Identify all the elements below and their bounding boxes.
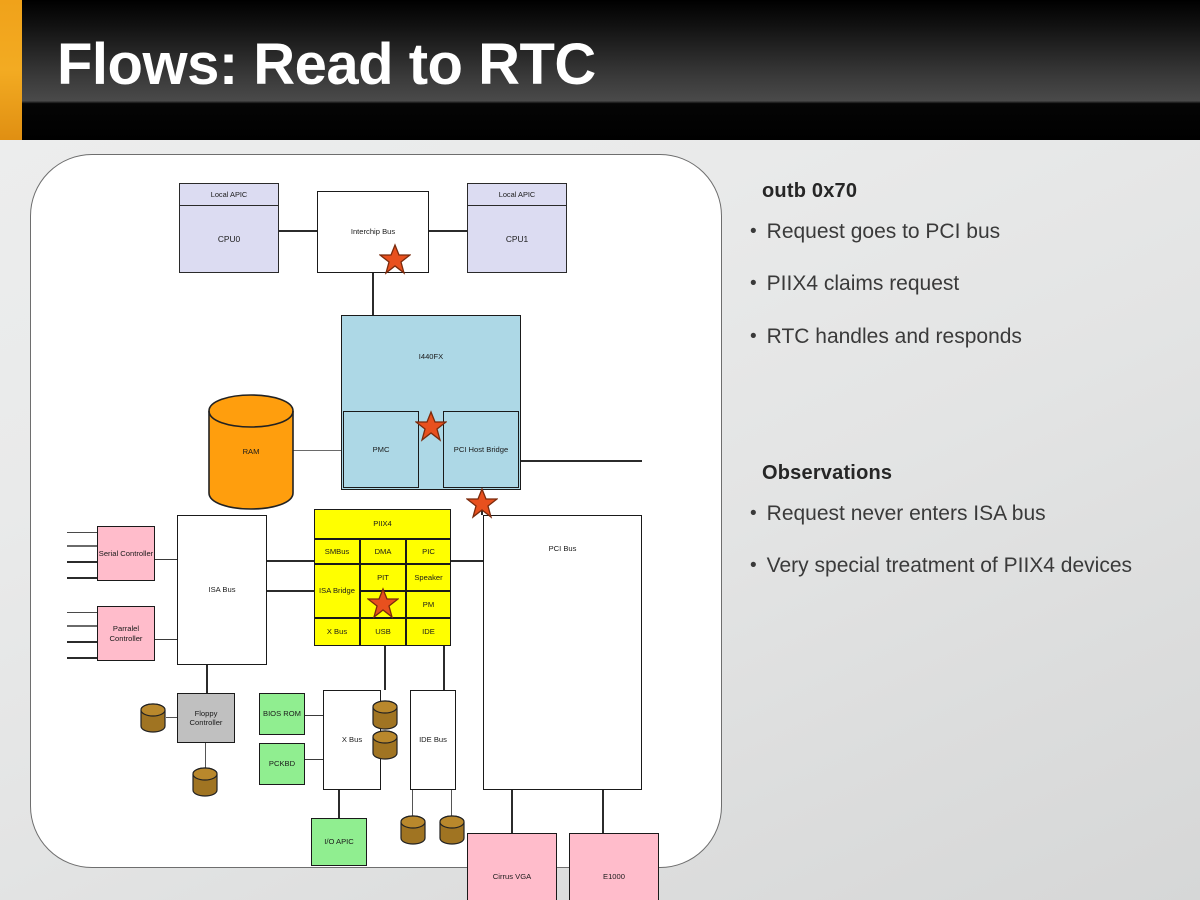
serial-lead-3 [67,561,97,563]
xbus-cell-label: X Bus [327,627,347,636]
wire-idebus-disk3 [412,787,413,817]
wire-xbus-ioapic [338,790,340,818]
flow-bullet-1: • Request goes to PCI bus [750,219,1178,245]
dma-label: DMA [375,547,392,556]
node-pmc[interactable]: PMC [343,411,419,488]
node-pci-bus[interactable]: PCI Bus [483,515,642,790]
bios-rom-label: BIOS ROM [263,709,301,718]
wire-interchip-cpu1 [429,230,467,232]
node-piix4-header[interactable]: PIIX4 [314,509,451,539]
speaker-label: Speaker [414,573,442,582]
bullet-glyph: • [750,501,757,527]
pmc-label: PMC [373,445,390,454]
serial-lead-2 [67,545,97,547]
node-io-apic[interactable]: I/O APIC [311,818,367,866]
isa-bridge-label: ISA Bridge [319,586,355,595]
observations-bullet-1: • Request never enters ISA bus [750,501,1178,527]
flow-bullet-3-text: RTC handles and responds [767,324,1178,350]
node-cpu0[interactable]: Local APIC CPU0 [179,183,279,273]
architecture-diagram: Local APIC CPU0 Local APIC CPU1 Interchi… [31,155,721,867]
star-marker-pci-bus-icon [466,487,498,519]
bullet-glyph: • [750,324,757,350]
pci-bus-label: PCI Bus [549,544,577,553]
wire-piix4-pcibus [451,560,483,562]
node-xbus-cell[interactable]: X Bus [314,618,360,646]
node-pci-host-bridge[interactable]: PCI Host Bridge [443,411,519,488]
pit-label: PIT [377,573,389,582]
wire-cpu0-interchip [279,230,317,232]
serial-lead-1 [67,532,97,533]
page-title: Flows: Read to RTC [57,36,596,94]
node-floppy-controller[interactable]: Floppy Controller [177,693,235,743]
diagram-card: Local APIC CPU0 Local APIC CPU1 Interchi… [30,154,722,868]
observations-bullet-2-text: Very special treatment of PIIX4 devices [767,553,1178,579]
node-smbus[interactable]: SMBus [314,539,360,564]
star-marker-i440fx-icon [415,410,447,442]
i440fx-label: I440FX [419,352,443,361]
flow-bullet-2-text: PIIX4 claims request [767,271,1178,297]
node-cirrus-vga[interactable]: Cirrus VGA [467,833,557,900]
piix4-label: PIIX4 [373,519,392,528]
flow-bullet-2: • PIIX4 claims request [750,271,1178,297]
node-ram[interactable] [203,393,299,511]
node-serial-controller[interactable]: Serial Controller [97,526,155,581]
parallel-lead-1 [67,612,97,613]
smbus-label: SMBus [325,547,349,556]
node-speaker[interactable]: Speaker [406,564,451,591]
pci-host-bridge-label: PCI Host Bridge [454,445,508,454]
x-bus-label: X Bus [342,735,362,744]
wire-piix4-xbus [384,645,386,690]
node-isa-bridge[interactable]: ISA Bridge [314,564,360,618]
cpu1-local-apic-label: Local APIC [468,184,566,206]
ide-disk-3-icon [399,815,427,845]
node-pic[interactable]: PIC [406,539,451,564]
parallel-lead-3 [67,641,97,643]
bullet-glyph: • [750,271,757,297]
node-isa-bus[interactable]: ISA Bus [177,515,267,665]
e1000-label: E1000 [603,872,625,881]
floppy-drive-b-icon [191,767,219,797]
wire-floppy-driveB [205,743,206,769]
pckbd-label: PCKBD [269,759,295,768]
cirrus-vga-label: Cirrus VGA [493,872,531,881]
usb-label: USB [375,627,391,636]
node-cpu1[interactable]: Local APIC CPU1 [467,183,567,273]
node-e1000[interactable]: E1000 [569,833,659,900]
wire-serial-isabus [155,559,177,560]
wire-interchip-i440fx [372,272,374,315]
cpu1-label: CPU1 [468,206,566,272]
ide-disk-2-icon [371,730,399,760]
title-bar: Flows: Read to RTC [0,0,1200,140]
parallel-controller-label: Parralel Controller [98,624,154,643]
node-parallel-controller[interactable]: Parralel Controller [97,606,155,661]
slide: Flows: Read to RTC [0,0,1200,900]
wire-biosrom-xbus [305,715,323,716]
parallel-lead-4 [67,657,97,659]
node-interchip-bus[interactable]: Interchip Bus [317,191,429,273]
wire-pcihost-right [521,460,642,462]
node-ide-bus[interactable]: IDE Bus [410,690,456,790]
observations-heading: Observations [762,462,1178,485]
text-column: outb 0x70 • Request goes to PCI bus • PI… [748,180,1178,605]
pm-label: PM [423,600,434,609]
wire-ram-pmc [293,450,343,451]
wire-idebus-disk4 [451,787,452,817]
floppy-drive-a-icon [139,703,167,733]
bullet-glyph: • [750,219,757,245]
node-ide[interactable]: IDE [406,618,451,646]
bullet-glyph: • [750,553,757,579]
node-bios-rom[interactable]: BIOS ROM [259,693,305,735]
star-marker-interchip-icon [379,243,411,275]
isa-bus-label: ISA Bus [208,585,235,594]
floppy-controller-label: Floppy Controller [178,709,234,728]
node-usb[interactable]: USB [360,618,406,646]
ide-disk-4-icon [438,815,466,845]
title-accent-stripe [0,0,22,140]
wire-pcibus-e1000 [602,790,604,833]
star-marker-rtc-icon [367,587,399,619]
flow-section: outb 0x70 • Request goes to PCI bus • PI… [748,180,1178,350]
serial-controller-label: Serial Controller [99,549,153,558]
serial-lead-4 [67,577,97,579]
observations-bullet-1-text: Request never enters ISA bus [767,501,1178,527]
pic-label: PIC [422,547,435,556]
wire-pcibus-vga [511,790,513,833]
ide-bus-label: IDE Bus [419,735,447,744]
observations-bullet-2: • Very special treatment of PIIX4 device… [750,553,1178,579]
interchip-bus-label: Interchip Bus [351,227,395,236]
node-pckbd[interactable]: PCKBD [259,743,305,785]
parallel-lead-2 [67,625,97,627]
wire-isabus-floppy [206,665,208,693]
wire-piix4-idebus [443,645,445,690]
io-apic-label: I/O APIC [324,837,354,846]
cpu0-label: CPU0 [180,206,278,272]
flow-bullet-3: • RTC handles and responds [750,324,1178,350]
ide-label: IDE [422,627,435,636]
wire-pckbd-xbus [305,759,323,760]
observations-section: Observations • Request never enters ISA … [748,462,1178,580]
ide-disk-1-icon [371,700,399,730]
flow-bullet-1-text: Request goes to PCI bus [767,219,1178,245]
node-pm[interactable]: PM [406,591,451,618]
flow-heading: outb 0x70 [762,180,1178,203]
node-dma[interactable]: DMA [360,539,406,564]
wire-parallel-isabus [155,639,177,640]
cpu0-local-apic-label: Local APIC [180,184,278,206]
